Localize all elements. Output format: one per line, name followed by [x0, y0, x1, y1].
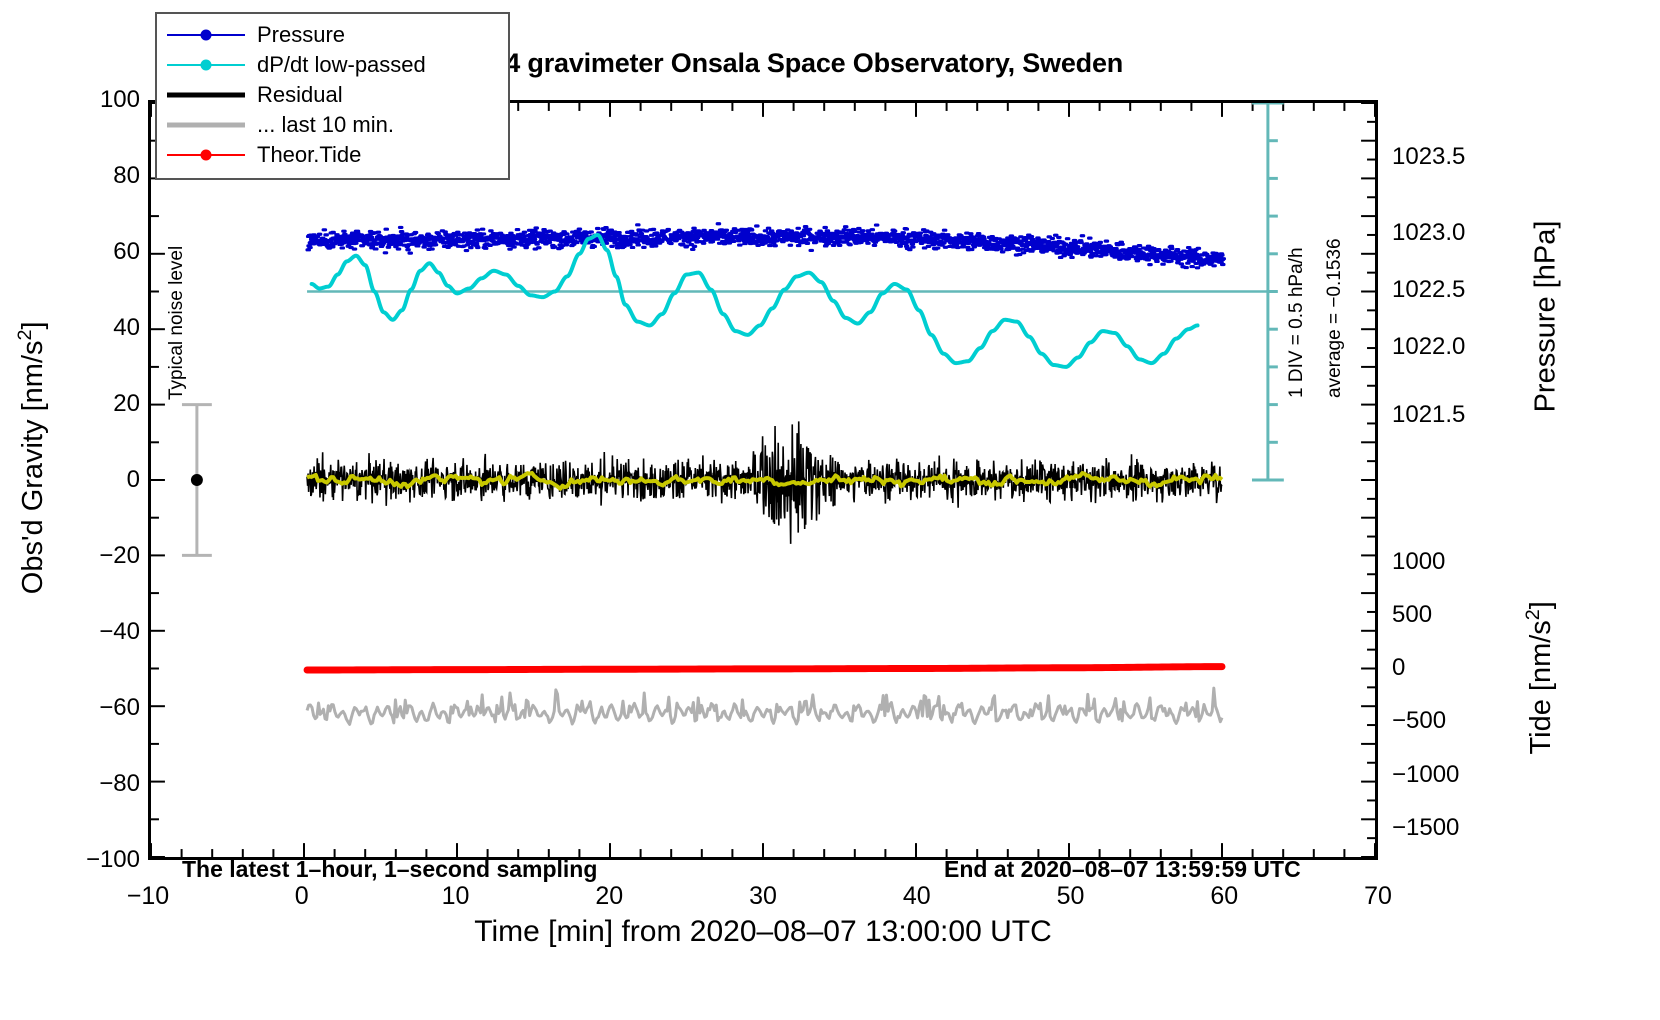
footer-end-time: End at 2020–08–07 13:59:59 UTC [944, 856, 1301, 883]
y-tick-left-10: −100 [30, 846, 140, 874]
legend-label-residual: Residual [245, 82, 343, 108]
y-tick-tide-4: −1000 [1392, 761, 1522, 789]
plot-area [148, 100, 1378, 860]
noise-level-label: Typical noise level [166, 246, 188, 400]
y-tick-left-1: 80 [30, 162, 140, 190]
y-tick-tide-0: 1000 [1392, 548, 1522, 576]
y-axis-tide-title-main: Tide [nm/s [1525, 620, 1557, 754]
legend-item-last10[interactable]: ... last 10 min. [167, 110, 498, 140]
x-tick-2: 10 [411, 882, 501, 911]
x-tick-6: 50 [1026, 882, 1116, 911]
series-pressure [307, 224, 1224, 268]
legend-item-dpdt[interactable]: dP/dt low-passed [167, 50, 498, 80]
x-tick-3: 20 [564, 882, 654, 911]
chart-root: SCG_054 gravimeter Onsala Space Observat… [0, 0, 1660, 1020]
x-tick-5: 40 [872, 882, 962, 911]
y-axis-tide-title: Tide [nm/s2] [1522, 498, 1558, 858]
legend-label-tide: Theor.Tide [245, 142, 361, 168]
legend-swatch-dpdt [167, 55, 245, 75]
legend-swatch-last10 [167, 115, 245, 135]
x-tick-0: −10 [103, 882, 193, 911]
footer-sampling-note: The latest 1–hour, 1–second sampling [182, 856, 597, 883]
x-axis-title: Time [min] from 2020–08–07 13:00:00 UTC [148, 915, 1378, 949]
noise-bar-center-dot [191, 474, 203, 486]
series-tide [307, 667, 1222, 670]
legend-swatch-residual [167, 85, 245, 105]
average-label: average = −0.1536 [1324, 238, 1346, 398]
legend-swatch-pressure [167, 25, 245, 45]
y-tick-tide-3: −500 [1392, 707, 1522, 735]
legend: PressuredP/dt low-passedResidual... last… [155, 12, 510, 180]
legend-label-last10: ... last 10 min. [245, 112, 394, 138]
div-scale-label: 1 DIV = 0.5 hPa/h [1286, 247, 1308, 398]
y-axis-right-ticks: 1023.51023.01022.51022.01021.510005000−5… [1392, 0, 1532, 1020]
y-axis-left-title: Obs'd Gravity [nm/s2] [14, 188, 50, 728]
y-axis-tide-title-tail: ] [1525, 601, 1557, 609]
legend-item-residual[interactable]: Residual [167, 80, 498, 110]
y-axis-left-title-sup: 2 [14, 330, 36, 341]
y-tick-tide-5: −1500 [1392, 814, 1522, 842]
y-tick-pressure-3: 1022.0 [1392, 333, 1522, 361]
y-axis-tide-title-sup: 2 [1522, 609, 1544, 620]
y-tick-pressure-0: 1023.5 [1392, 143, 1522, 171]
legend-swatch-tide [167, 145, 245, 165]
legend-label-dpdt: dP/dt low-passed [245, 52, 426, 78]
x-tick-8: 70 [1333, 882, 1423, 911]
x-tick-7: 60 [1179, 882, 1269, 911]
y-axis-pressure-title: Pressure [hPa] [1530, 107, 1563, 527]
y-axis-left-title-tail: ] [17, 321, 49, 329]
plot-svg [151, 103, 1375, 857]
y-tick-left-0: 100 [30, 86, 140, 114]
y-tick-tide-2: 0 [1392, 654, 1522, 682]
legend-item-pressure[interactable]: Pressure [167, 20, 498, 50]
y-tick-pressure-2: 1022.5 [1392, 276, 1522, 304]
series-last10 [307, 688, 1222, 724]
y-tick-tide-1: 500 [1392, 601, 1522, 629]
x-tick-4: 30 [718, 882, 808, 911]
legend-item-tide[interactable]: Theor.Tide [167, 140, 498, 170]
y-tick-pressure-1: 1023.0 [1392, 219, 1522, 247]
y-axis-left-title-main: Obs'd Gravity [nm/s [17, 340, 49, 594]
x-tick-1: 0 [257, 882, 347, 911]
legend-label-pressure: Pressure [245, 22, 345, 48]
y-tick-pressure-4: 1021.5 [1392, 401, 1522, 429]
y-tick-left-9: −80 [30, 770, 140, 798]
